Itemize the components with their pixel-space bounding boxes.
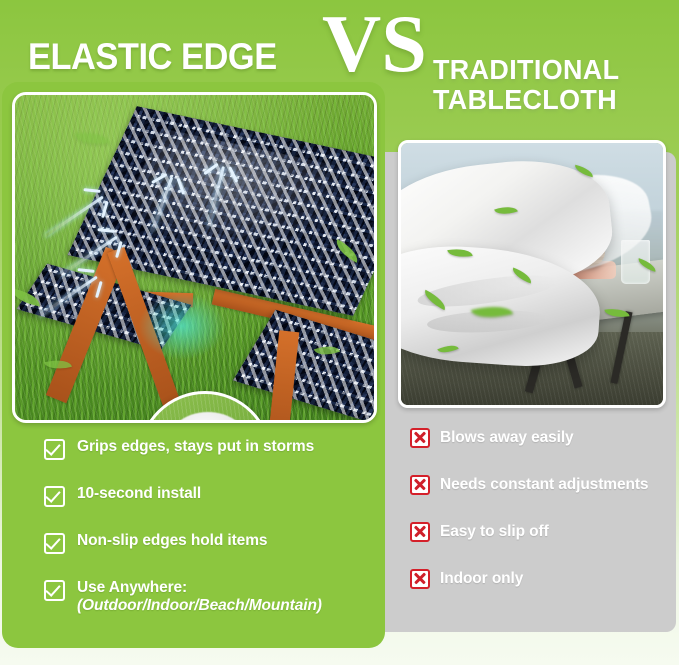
feature-label-group: Use Anywhere: (Outdoor/Indoor/Beach/Moun… (77, 579, 322, 616)
traditional-tablecloth-photo (398, 140, 666, 408)
header-right-title: TRADITIONAL TABLECLOTH (433, 55, 663, 115)
elastic-edge-feature-list: Grips edges, stays put in storms 10-seco… (44, 438, 374, 641)
feature-item: Non-slip edges hold items (44, 532, 374, 554)
checkbox-icon (44, 439, 65, 460)
header-right-line2: TABLECLOTH (433, 85, 663, 115)
traditional-drawback-list: Blows away easily Needs constant adjustm… (410, 428, 678, 616)
x-mark-icon (410, 522, 430, 542)
x-mark-icon (410, 475, 430, 495)
header-left-title: ELASTIC EDGE (28, 38, 316, 75)
x-mark-icon (410, 569, 430, 589)
drawback-label: Needs constant adjustments (440, 476, 648, 494)
elastic-edge-hand-inset (138, 391, 272, 423)
header-vs-label: VS (322, 3, 427, 85)
wind-glow (137, 291, 227, 361)
feature-label: Non-slip edges hold items (77, 532, 267, 550)
checkbox-icon (44, 486, 65, 507)
feature-item: Use Anywhere: (Outdoor/Indoor/Beach/Moun… (44, 579, 374, 616)
x-mark-icon (410, 428, 430, 448)
checkbox-icon (44, 533, 65, 554)
drawback-label: Blows away easily (440, 429, 574, 447)
comparison-infographic: ELASTIC EDGE VS TRADITIONAL TABLECLOTH (0, 0, 679, 665)
feature-sublabel: (Outdoor/Indoor/Beach/Mountain) (77, 597, 322, 615)
feature-label: 10-second install (77, 485, 201, 503)
checkbox-icon (44, 580, 65, 601)
feature-label: Grips edges, stays put in storms (77, 438, 314, 456)
feature-label: Use Anywhere: (77, 579, 187, 596)
elastic-edge-photo (12, 92, 377, 423)
drawback-label: Easy to slip off (440, 523, 549, 541)
drawback-item: Easy to slip off (410, 522, 678, 542)
drawback-item: Indoor only (410, 569, 678, 589)
drawback-label: Indoor only (440, 570, 523, 588)
feature-item: 10-second install (44, 485, 374, 507)
header-right-line1: TRADITIONAL (433, 54, 619, 85)
feature-item: Grips edges, stays put in storms (44, 438, 374, 460)
drawback-item: Blows away easily (410, 428, 678, 448)
drawback-item: Needs constant adjustments (410, 475, 678, 495)
